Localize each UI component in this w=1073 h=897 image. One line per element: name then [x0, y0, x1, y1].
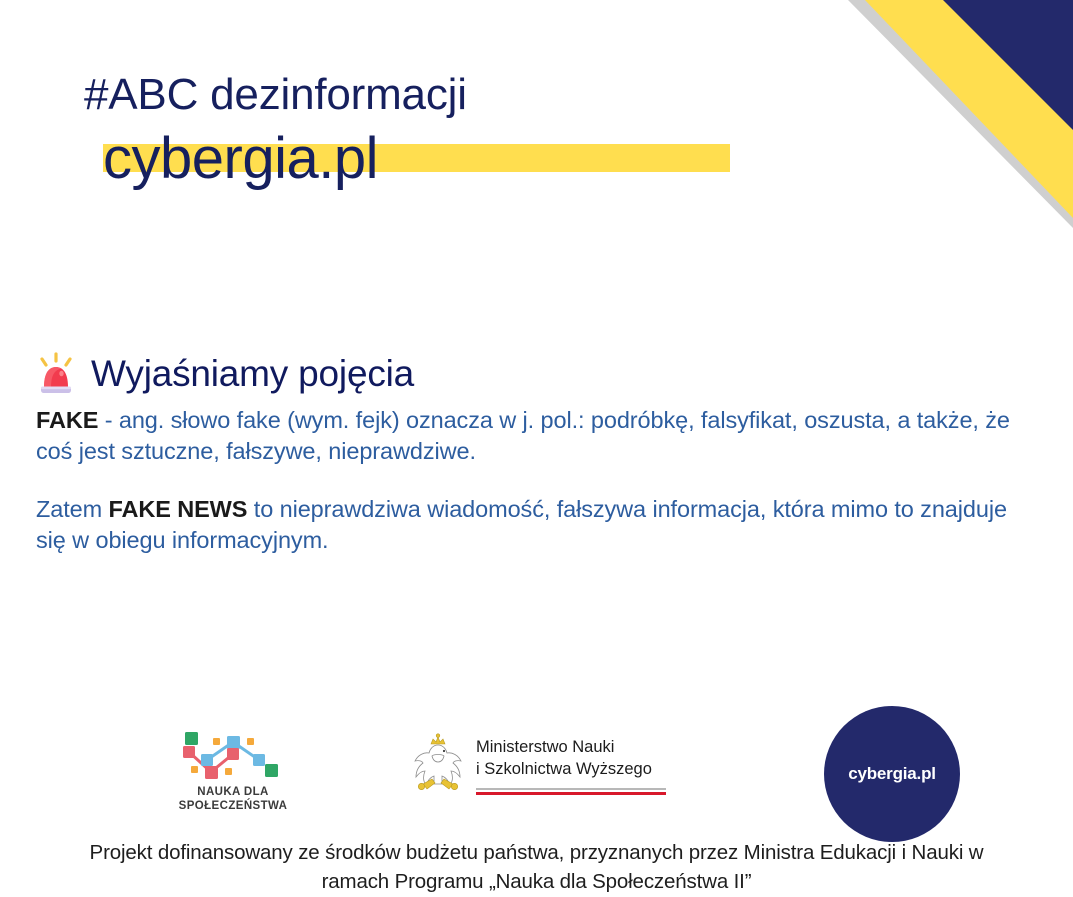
logo-nauka-dla-spoleczenstwa: NAUKA DLA SPOŁECZEŃSTWA [148, 730, 318, 813]
node-orange-d [225, 768, 232, 775]
logo-ministry: Ministerstwo Nauki i Szkolnictwa Wyższeg… [410, 732, 666, 798]
node-blue-top [227, 736, 240, 749]
eagle-eye [443, 750, 445, 752]
node-blue-left [201, 754, 213, 766]
node-orange-a [213, 738, 220, 745]
alarm-base-highlight [41, 387, 71, 390]
logos-row: NAUKA DLA SPOŁECZEŃSTWA Ministerstwo Nau [0, 706, 1073, 826]
section-heading: Wyjaśniamy pojęcia [36, 352, 1041, 396]
ministry-rule-gray [476, 788, 666, 790]
footer-line-2: ramach Programu „Nauka dla Społeczeństwa… [0, 867, 1073, 896]
node-red-left [183, 746, 195, 758]
hashtag-title: #ABC dezinformacji [84, 72, 820, 118]
polish-eagle-icon [410, 732, 466, 798]
logo-nds-caption-line2: SPOŁECZEŃSTWA [148, 799, 318, 813]
paragraph-fake-text: - ang. słowo fake (wym. fejk) oznacza w … [36, 407, 1010, 464]
node-blue-right [253, 754, 265, 766]
node-red-bottom [205, 766, 218, 779]
header-block: #ABC dezinformacji cybergia.pl [0, 72, 820, 196]
corner-ribbon-decoration [813, 0, 1073, 230]
main-content: Wyjaśniamy pojęcia FAKE - ang. słowo fak… [36, 352, 1041, 556]
rotating-light-icon [36, 352, 76, 396]
term-fake: FAKE [36, 407, 98, 433]
eagle-body [415, 745, 461, 785]
ribbon-band-yellow [865, 0, 1073, 218]
node-orange-c [191, 766, 198, 773]
footer-funding-note: Projekt dofinansowany ze środków budżetu… [0, 838, 1073, 896]
ministry-rule-red [476, 792, 666, 795]
node-orange-b [247, 738, 254, 745]
node-red-right [227, 748, 239, 760]
ministry-text: Ministerstwo Nauki i Szkolnictwa Wyższeg… [476, 735, 666, 795]
brand-line: cybergia.pl [103, 126, 820, 196]
footer-line-1: Projekt dofinansowany ze środków budżetu… [0, 838, 1073, 867]
network-nodes-icon [177, 730, 289, 780]
cybergia-badge[interactable]: cybergia.pl [824, 706, 960, 842]
ministry-line-2: i Szkolnictwa Wyższego [476, 759, 666, 781]
eagle-crown [431, 734, 445, 744]
logo-nds-caption-line1: NAUKA DLA [148, 785, 318, 799]
alarm-glint [59, 371, 63, 377]
brand-name: cybergia.pl [103, 126, 378, 188]
logo-nds-caption: NAUKA DLA SPOŁECZEŃSTWA [148, 785, 318, 813]
term-fake-news: FAKE NEWS [109, 496, 248, 522]
ribbon-band-navy [943, 0, 1073, 130]
corner-ribbon-svg [813, 0, 1073, 230]
alarm-rays [42, 354, 70, 365]
paragraph-fake-news-lead: Zatem [36, 496, 109, 522]
node-green-topleft [185, 732, 198, 745]
paragraph-fake: FAKE - ang. słowo fake (wym. fejk) oznac… [36, 405, 1041, 468]
node-green-bottomright [265, 764, 278, 777]
ribbon-band-gray [848, 0, 1073, 228]
section-heading-text: Wyjaśniamy pojęcia [91, 354, 414, 395]
cybergia-badge-label: cybergia.pl [848, 764, 936, 784]
ministry-line-1: Ministerstwo Nauki [476, 737, 666, 759]
paragraph-fake-news: Zatem FAKE NEWS to nieprawdziwa wiadomoś… [36, 494, 1041, 557]
